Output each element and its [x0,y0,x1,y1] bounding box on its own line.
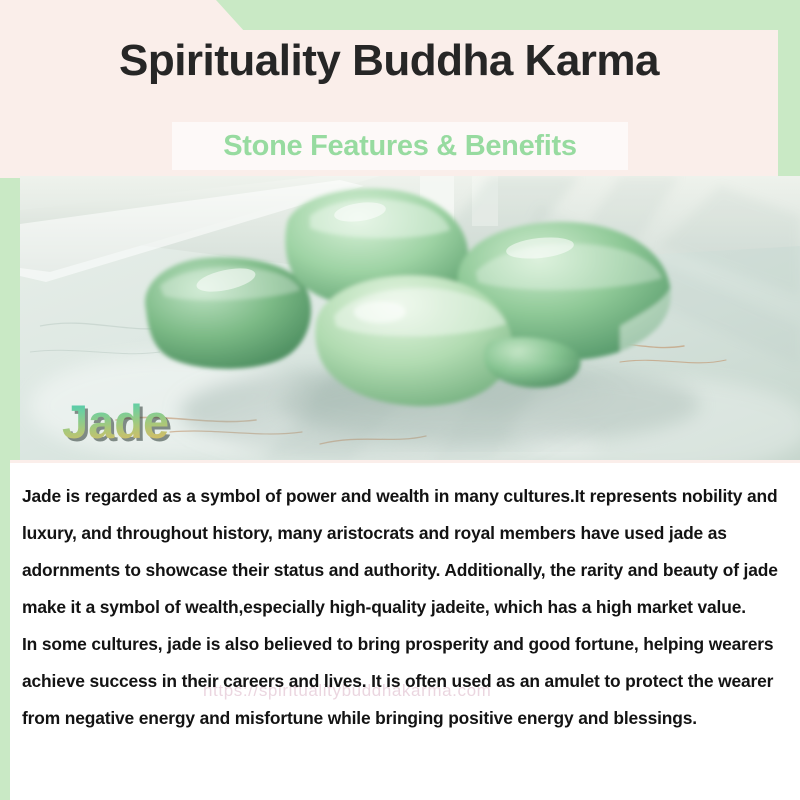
page-title: Spirituality Buddha Karma [0,38,778,84]
description-paragraphs: Jade is regarded as a symbol of power an… [22,478,790,737]
paragraph-1: Jade is regarded as a symbol of power an… [22,478,790,626]
left-green-strip [0,463,10,800]
subtitle-text: Stone Features & Benefits [223,130,576,163]
paragraph-2: In some cultures, jade is also believed … [22,626,790,737]
jade-overlay-label: Jade [62,398,169,445]
subtitle-box: Stone Features & Benefits [172,122,628,170]
